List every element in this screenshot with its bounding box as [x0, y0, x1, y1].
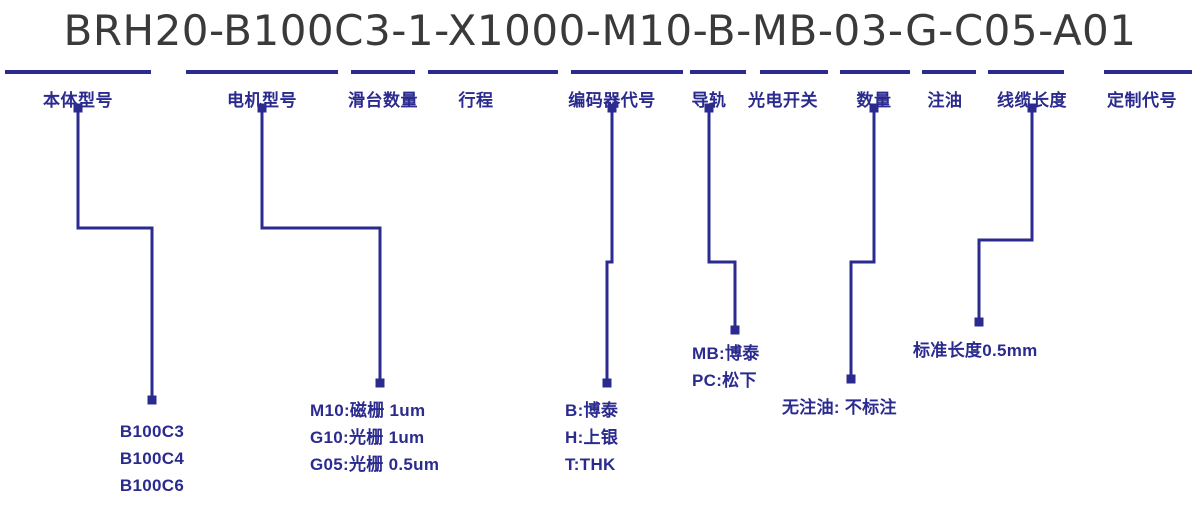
callout-option-line: B100C6	[120, 472, 184, 499]
callout-option-line: B100C4	[120, 445, 184, 472]
segment-label-motor_model: 电机型号	[227, 86, 297, 111]
segment-label-custom_code: 定制代号	[1107, 86, 1177, 111]
segment-label-stroke: 行程	[459, 86, 494, 111]
callout-body_model_options: B100C3B100C4B100C6	[120, 418, 184, 499]
segment-label-cable_length: 线缆长度	[997, 86, 1067, 111]
callout-oiling_options: 无注油: 不标注	[782, 394, 897, 421]
connector-motor_model_options	[262, 108, 380, 383]
callout-option-line: G10:光栅 1um	[310, 424, 439, 451]
callout-option-line: B:博泰	[565, 397, 618, 424]
callout-option-line: 无注油: 不标注	[782, 394, 897, 421]
segment-rule-quantity	[840, 70, 910, 74]
connector-rail_options	[709, 108, 735, 330]
callout-option-line: B100C3	[120, 418, 184, 445]
segment-rule-oiling	[922, 70, 976, 74]
segment-rule-guide_rail	[690, 70, 746, 74]
model-number-title: BRH20-B100C3-1-X1000-M10-B-MB-03-G-C05-A…	[0, 6, 1200, 55]
callout-rail_options: MB:博泰PC:松下	[692, 340, 760, 394]
connector-end-cap-rail_options	[731, 326, 740, 335]
connector-oiling_options	[851, 108, 874, 379]
segment-rule-encoder_code	[571, 70, 683, 74]
segment-label-body_model: 本体型号	[43, 86, 113, 111]
segment-rule-body_model	[5, 70, 151, 74]
segment-label-encoder_code: 编码器代号	[568, 86, 656, 111]
segment-label-slide_count: 滑台数量	[348, 86, 418, 111]
segment-label-quantity: 数量	[857, 86, 892, 111]
connector-end-cap-body_model_options	[148, 396, 157, 405]
callout-cable_length_options: 标准长度0.5mm	[913, 337, 1038, 364]
connector-end-cap-motor_model_options	[376, 379, 385, 388]
callout-option-line: 标准长度0.5mm	[913, 337, 1038, 364]
callout-option-line: H:上银	[565, 424, 618, 451]
segment-rule-photo_switch	[760, 70, 828, 74]
connector-cable_length_options	[979, 108, 1032, 322]
callout-option-line: MB:博泰	[692, 340, 760, 367]
model-number-breakdown-diagram: BRH20-B100C3-1-X1000-M10-B-MB-03-G-C05-A…	[0, 0, 1200, 507]
callout-option-line: T:THK	[565, 451, 618, 478]
callout-option-line: PC:松下	[692, 367, 760, 394]
segment-rule-stroke	[428, 70, 558, 74]
connector-end-cap-cable_length_options	[975, 318, 984, 327]
segment-label-photo_switch: 光电开关	[748, 86, 818, 111]
callout-option-line: M10:磁栅 1um	[310, 397, 439, 424]
callout-option-line: G05:光栅 0.5um	[310, 451, 439, 478]
connector-end-cap-oiling_options	[847, 375, 856, 384]
segment-rule-cable_length	[988, 70, 1064, 74]
callout-motor_model_options: M10:磁栅 1umG10:光栅 1umG05:光栅 0.5um	[310, 397, 439, 478]
connector-end-cap-encoder_options	[603, 379, 612, 388]
segment-rule-slide_count	[351, 70, 415, 74]
segment-rule-motor_model	[186, 70, 338, 74]
segment-rule-custom_code	[1104, 70, 1192, 74]
segment-label-guide_rail: 导轨	[692, 86, 727, 111]
callout-encoder_options: B:博泰H:上银T:THK	[565, 397, 618, 478]
connector-body_model_options	[78, 108, 152, 400]
segment-label-oiling: 注油	[928, 86, 963, 111]
connector-encoder_options	[607, 108, 612, 383]
